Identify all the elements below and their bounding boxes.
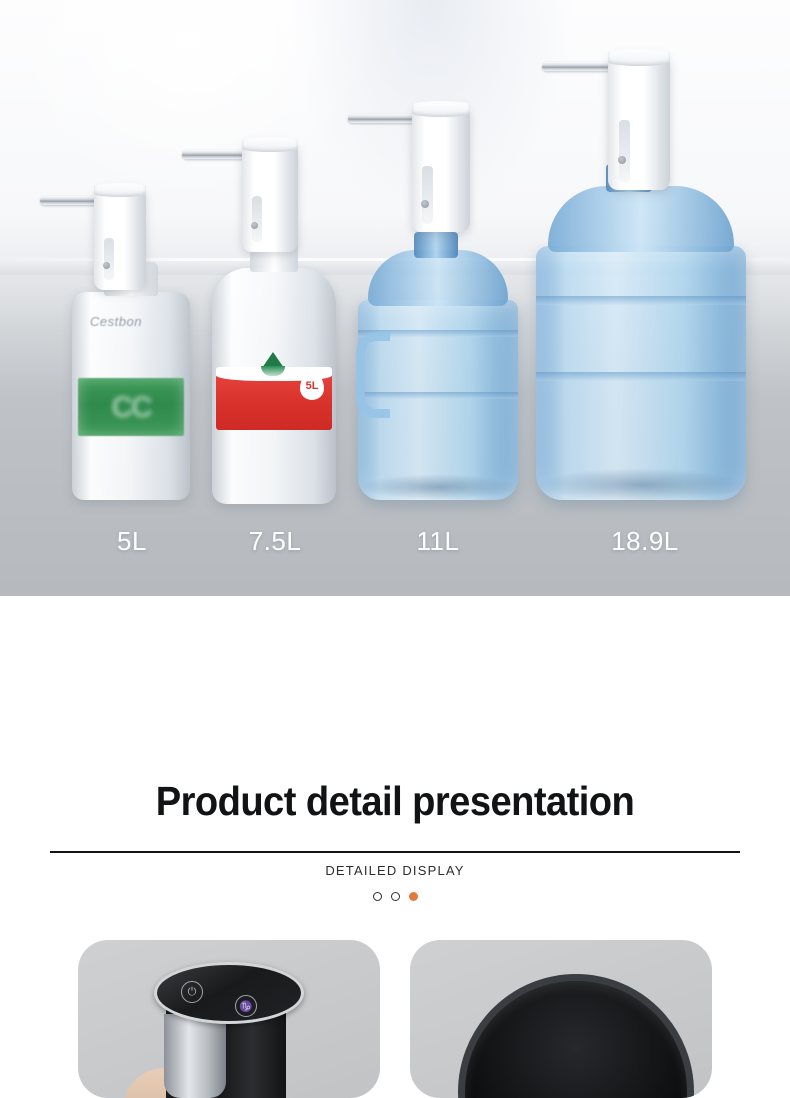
bottle-18-9l-ring-lower (536, 372, 746, 381)
carousel-dot-1[interactable] (373, 892, 382, 901)
pump-3-body (412, 104, 470, 232)
pump-4-groove (619, 120, 630, 182)
bottle-11l-neck (414, 232, 458, 258)
page-subtitle: DETAILED DISPLAY (0, 863, 790, 878)
bottle-18-9l-ring-upper (536, 296, 746, 305)
detail-image-cards: ⏻ ♑ 800 ML (0, 940, 790, 1098)
page-title: Product detail presentation (28, 778, 763, 825)
title-divider (50, 851, 740, 853)
pump-1-cap (94, 183, 146, 197)
product-detail-page: CC Cestbon 5L (0, 0, 790, 1098)
bottle-7-5l-badge: 5L (300, 372, 324, 400)
carousel-dot-3-active[interactable] (409, 892, 418, 901)
bottle-5l-brand: Cestbon (90, 314, 142, 329)
led-display-panel: 800 ML (458, 974, 694, 1098)
carousel-dots (0, 892, 790, 901)
water-drop-icon[interactable]: ♑ (235, 995, 257, 1017)
carousel-dot-2[interactable] (391, 892, 400, 901)
bottle-5l-label-wordmark: CC (78, 391, 184, 425)
touch-control-panel-card[interactable]: ⏻ ♑ (78, 940, 380, 1098)
dispenser-chrome-band (164, 1014, 226, 1098)
bottle-5l-label: CC (78, 378, 184, 436)
pump-2-body (242, 140, 298, 252)
pump-2-cap (242, 137, 298, 152)
pump-3-indicator-icon (421, 200, 429, 208)
capacity-label-11l: 11L (382, 526, 494, 557)
bottle-11l-base (358, 474, 518, 500)
bottle-5l: CC Cestbon (72, 292, 190, 500)
pump-1-body (94, 186, 146, 290)
bottle-18-9l-shoulder (548, 186, 734, 252)
pump-2-groove (252, 196, 262, 242)
pump-1-groove (104, 238, 114, 280)
power-icon[interactable]: ⏻ (181, 981, 203, 1003)
bottle-18-9l-base (536, 468, 746, 502)
capacity-label-7-5l: 7.5L (216, 526, 334, 557)
pump-2-indicator-icon (251, 222, 258, 229)
dispenser-touch-panel[interactable]: ⏻ ♑ (154, 962, 304, 1024)
pump-1-indicator-icon (103, 262, 110, 269)
pump-3-cap (412, 101, 470, 117)
capacity-label-18-9l: 18.9L (582, 526, 708, 557)
bottle-11l-shoulder (368, 250, 508, 306)
led-volume-display-card[interactable]: 800 ML (410, 940, 712, 1098)
pump-4-indicator-icon (618, 156, 626, 164)
pump-4-cap (608, 49, 670, 66)
capacity-label-5l: 5L (78, 526, 186, 557)
detail-section: Product detail presentation DETAILED DIS… (0, 778, 790, 901)
bottle-11l-handle (356, 332, 390, 418)
bottle-7-5l: 5L (212, 268, 336, 504)
hero-product-photo: CC Cestbon 5L (0, 0, 790, 596)
pump-4-body (608, 52, 670, 190)
pump-3-groove (422, 166, 433, 224)
